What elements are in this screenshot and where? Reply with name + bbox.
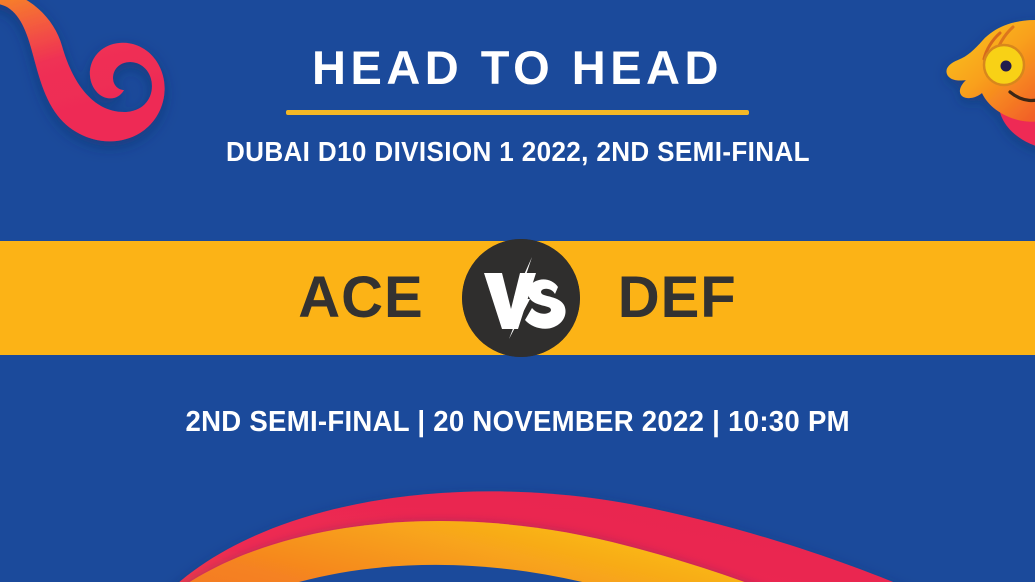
match-meta-text: 2ND SEMI-FINAL | 20 NOVEMBER 2022 | 10:3… [185,408,849,437]
title-divider [286,110,749,115]
page-title: HEAD TO HEAD [312,44,723,91]
match-meta-line: 2ND SEMI-FINAL | 20 NOVEMBER 2022 | 10:3… [0,408,1035,437]
team-left-name: ACE [298,269,423,327]
vs-badge: VS [462,239,580,357]
team-right-name: DEF [618,269,737,327]
poster-header: HEAD TO HEAD DUBAI D10 DIVISION 1 2022, … [0,0,1035,241]
bottom-arc-swoosh-icon [130,491,980,582]
head-to-head-poster: HEAD TO HEAD DUBAI D10 DIVISION 1 2022, … [0,0,1035,582]
tournament-subtitle: DUBAI D10 DIVISION 1 2022, 2ND SEMI-FINA… [226,138,810,166]
matchup-band: ACE VS DEF [0,241,1035,355]
